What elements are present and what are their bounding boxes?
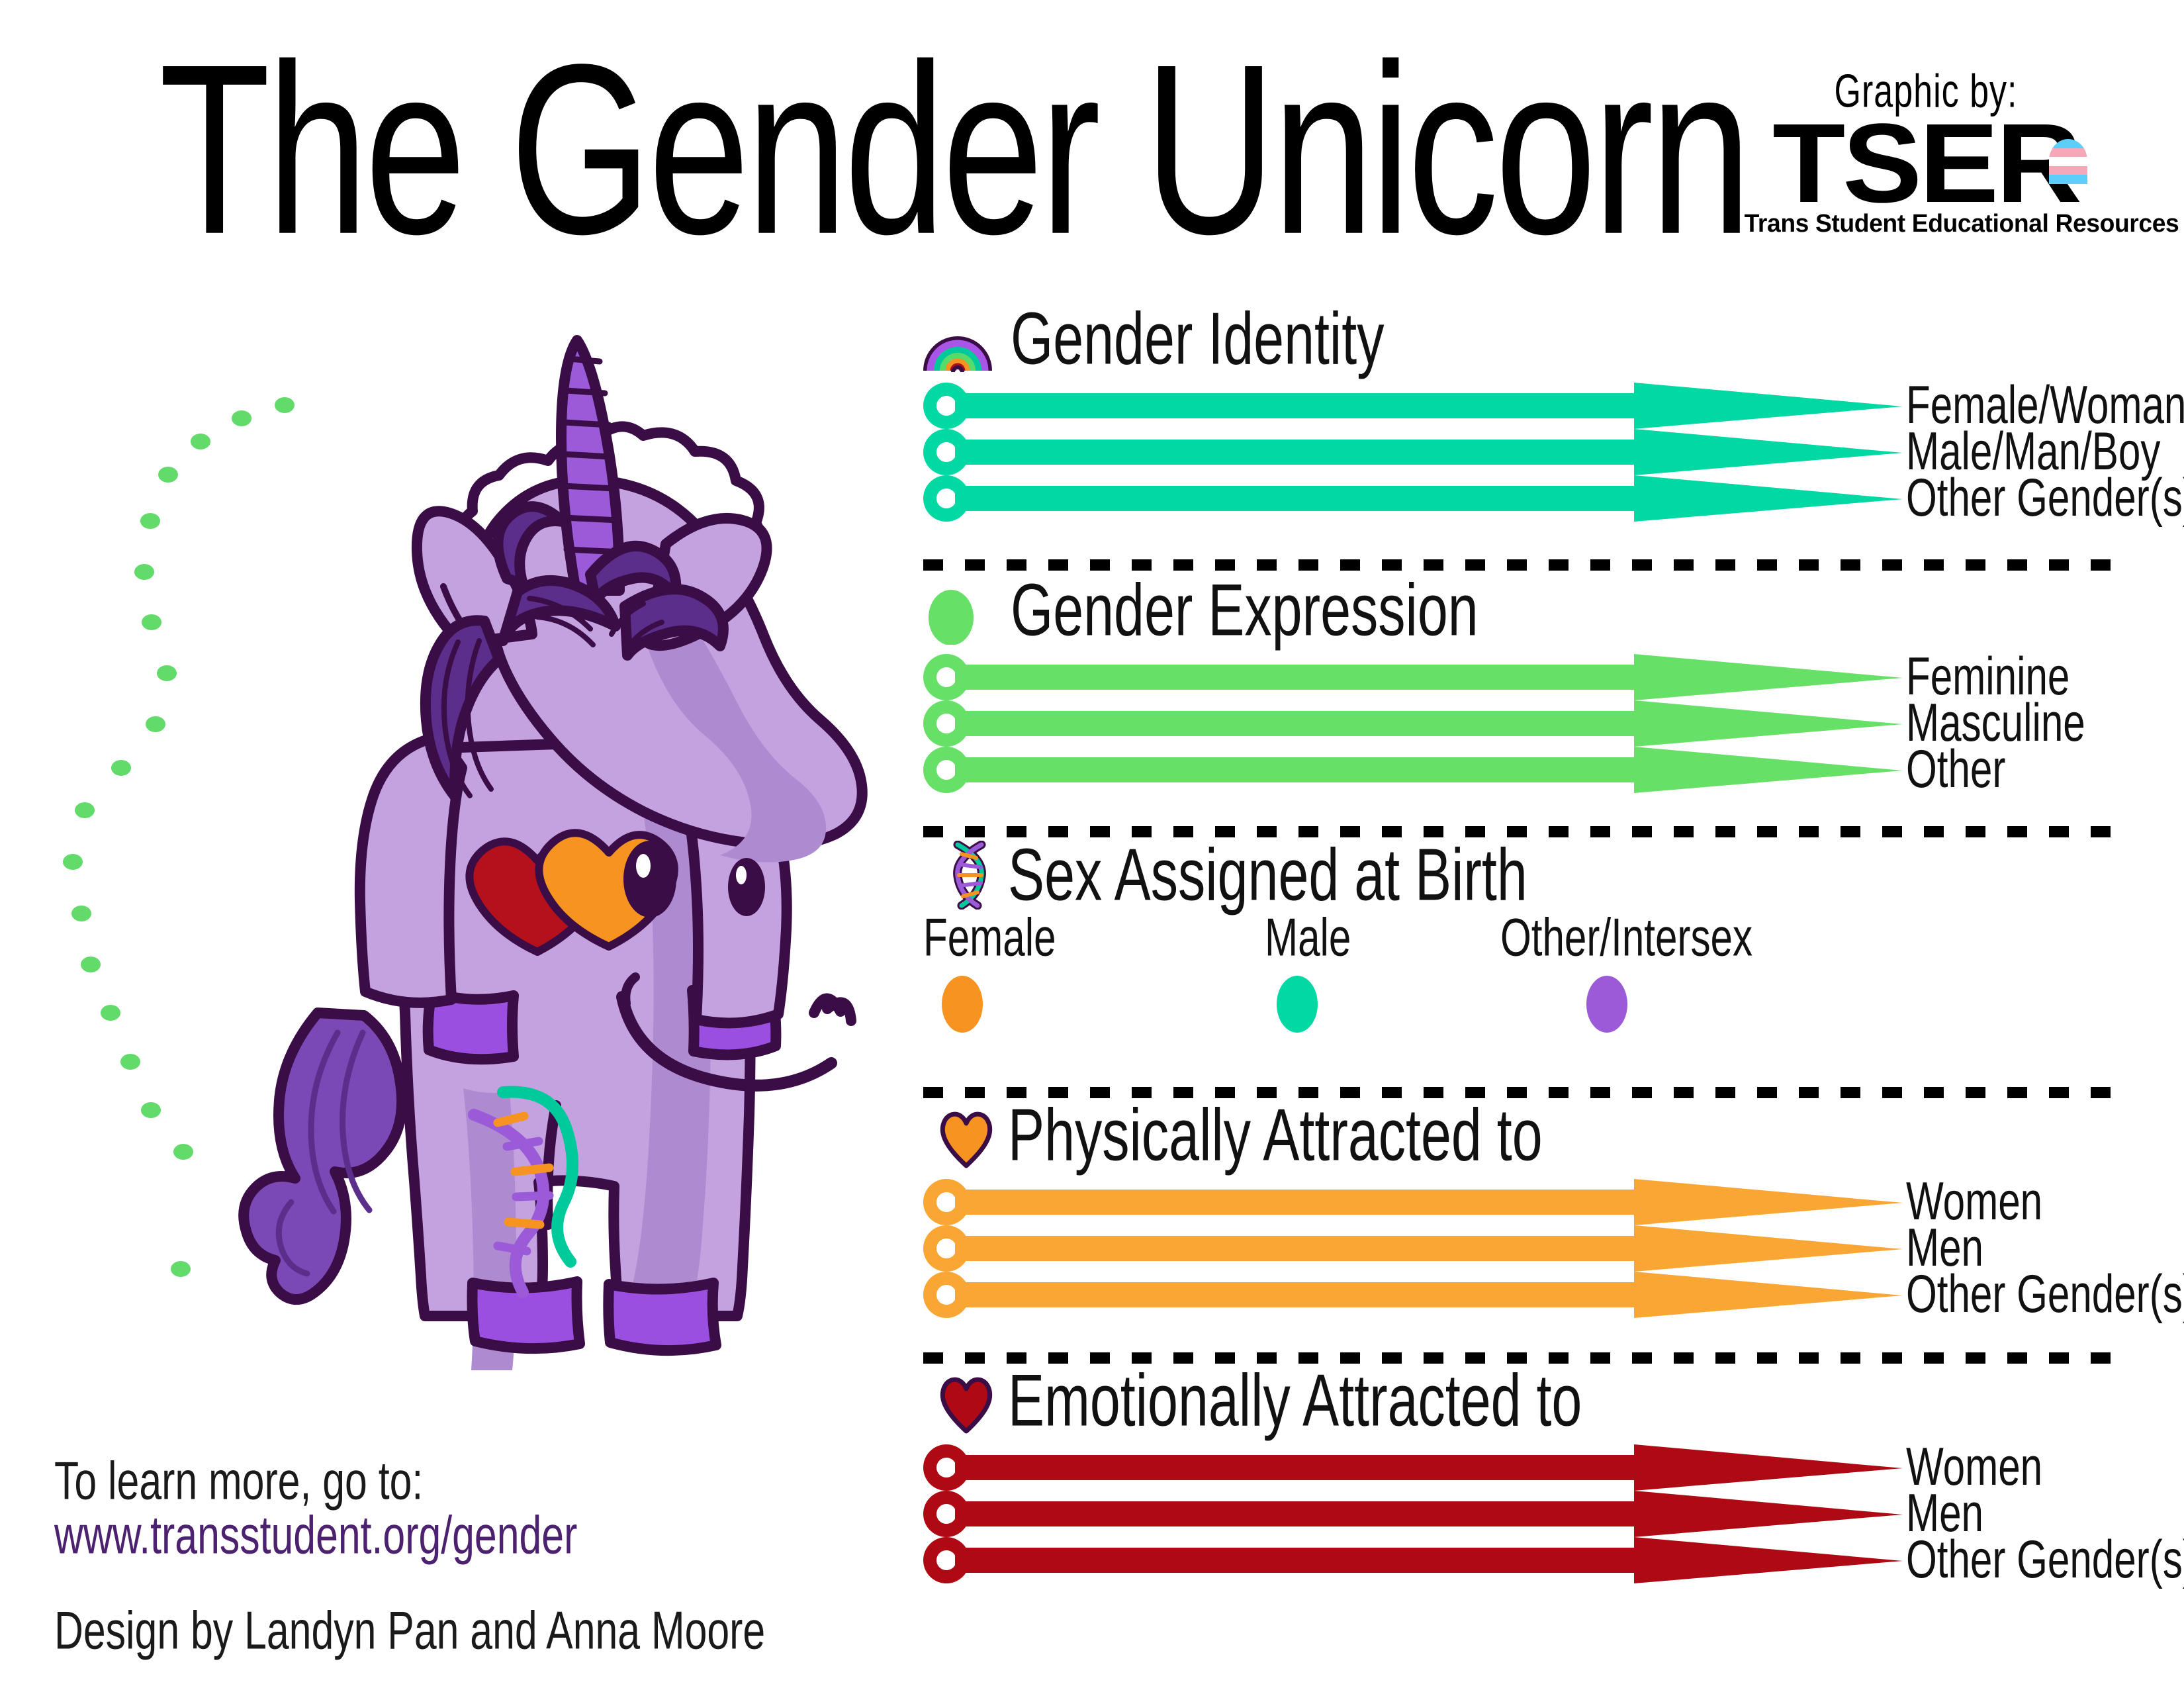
sab-option-female[interactable]: Female: [923, 914, 1060, 1033]
section-title: Emotionally Attracted to: [1008, 1366, 1582, 1435]
sab-options: Female Male Other/Intersex: [923, 914, 2108, 1039]
section-title: Physically Attracted to: [1008, 1101, 1543, 1170]
learn-more-label: To learn more, go to:: [54, 1455, 423, 1509]
sab-label: Female: [923, 914, 1056, 963]
section-header: Emotionally Attracted to: [923, 1361, 2108, 1435]
arrow-row[interactable]: Other Gender(s): [923, 475, 2108, 522]
arrow-row[interactable]: Other Gender(s): [923, 1537, 2108, 1583]
page-title: The Gender Unicorn: [159, 32, 1748, 266]
arrow-label: Other Gender(s): [1906, 473, 2184, 524]
section-sex-assigned-at-birth: Sex Assigned at Birth Female Male Other/…: [923, 835, 2108, 1039]
sab-dot-female: [942, 976, 983, 1033]
sab-option-other-intersex[interactable]: Other/Intersex: [1500, 914, 1760, 1033]
section-header: Sex Assigned at Birth: [923, 835, 2108, 910]
arrow-list: Women Men Other Gender(s): [923, 1179, 2108, 1318]
trans-flag-icon: [2049, 139, 2087, 184]
green-circle-icon: [923, 576, 992, 645]
arrow-row[interactable]: Other: [923, 747, 2108, 793]
orange-heart-icon: [938, 1101, 995, 1170]
dna-helix-icon: [947, 841, 993, 910]
tser-full-name: Trans Student Educational Resources: [1745, 210, 2108, 238]
section-header: Gender Identity: [923, 299, 2108, 373]
arrow-label: Other Gender(s): [1906, 1534, 2184, 1586]
section-emotionally-attracted-to: Emotionally Attracted to Women: [923, 1361, 2108, 1583]
sab-label: Male: [1265, 914, 1351, 963]
design-credit: Design by Landyn Pan and Anna Moore: [54, 1605, 765, 1658]
sab-dot-other-intersex: [1586, 976, 1627, 1033]
section-gender-identity: Gender Identity Female/Woman/Girl: [923, 299, 2108, 522]
arrow-list: Female/Woman/Girl Male/Man/Boy O: [923, 383, 2108, 522]
section-title: Gender Identity: [1011, 305, 1385, 373]
sab-label: Other/Intersex: [1500, 914, 1752, 963]
section-gender-expression: Gender Expression Feminine Ma: [923, 571, 2108, 793]
section-title: Gender Expression: [1011, 576, 1479, 645]
section-title: Sex Assigned at Birth: [1008, 841, 1527, 910]
infographic-canvas: The Gender Unicorn Graphic by: TSER Tran…: [0, 0, 2184, 1688]
section-header: Gender Expression: [923, 571, 2108, 645]
rainbow-icon: [923, 305, 992, 373]
arrow-list: Feminine Masculine Other: [923, 654, 2108, 793]
red-heart-icon: [938, 1366, 995, 1435]
section-header: Physically Attracted to: [923, 1096, 2108, 1170]
section-physically-attracted-to: Physically Attracted to Women: [923, 1096, 2108, 1318]
sab-option-male[interactable]: Male: [1265, 914, 1353, 1033]
arrow-label: Other Gender(s): [1906, 1269, 2184, 1321]
sab-dot-male: [1277, 976, 1318, 1033]
arrow-label: Other: [1906, 744, 2005, 796]
arrow-list: Women Men Other Gender(s): [923, 1444, 2108, 1583]
unicorn-illustration: [199, 311, 874, 1383]
website-link[interactable]: www.transstudent.org/gender: [54, 1509, 577, 1563]
arrow-row[interactable]: Other Gender(s): [923, 1272, 2108, 1318]
tser-credit-block: Graphic by: TSER Trans Student Education…: [1741, 65, 2111, 238]
tser-wordmark: TSER: [1741, 119, 2111, 209]
